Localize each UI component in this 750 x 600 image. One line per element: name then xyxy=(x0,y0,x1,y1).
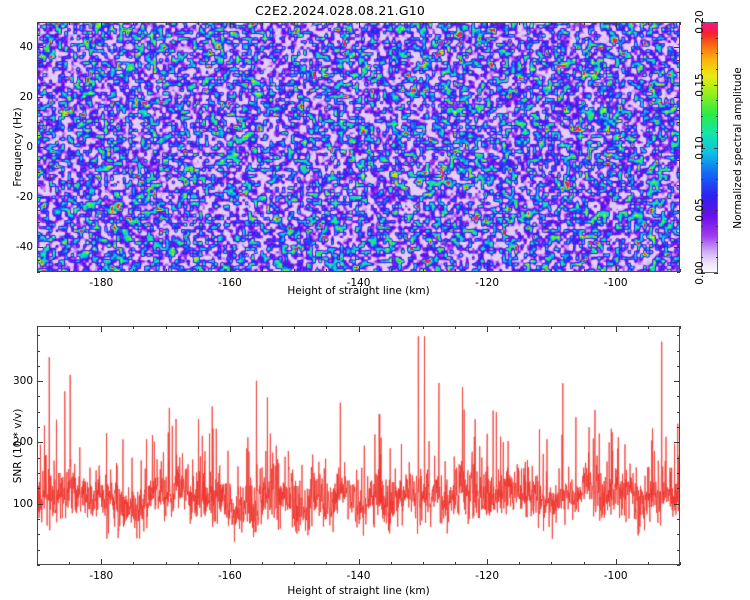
spectrogram-y-minor-tick xyxy=(37,222,40,223)
spectrogram-x-minor-tick xyxy=(294,269,295,272)
spectrogram-y-minor-tick xyxy=(37,160,40,161)
colorbar-minor-tick xyxy=(701,163,703,164)
snr-y-tick xyxy=(37,504,43,505)
spectrogram-y-minor-tick xyxy=(677,22,680,23)
spectrogram-x-minor-tick xyxy=(262,22,263,25)
spectrogram-x-minor-tick xyxy=(262,269,263,272)
spectrogram-y-minor-tick xyxy=(37,185,40,186)
spectrogram-x-tick-label: -100 xyxy=(604,277,628,289)
snr-x-tick xyxy=(230,559,231,565)
spectrogram-x-tick xyxy=(487,22,488,28)
colorbar-minor-tick xyxy=(716,69,718,70)
colorbar-tick-label: 0.10 xyxy=(694,136,706,159)
snr-x-minor-tick xyxy=(262,562,263,565)
spectrogram-y-minor-tick xyxy=(677,235,680,236)
colorbar-tick xyxy=(714,85,718,86)
snr-x-minor-tick xyxy=(166,326,167,329)
figure-title: C2E2.2024.028.08.21.G10 xyxy=(0,3,680,18)
snr-y-minor-tick xyxy=(677,519,680,520)
snr-x-minor-tick xyxy=(391,326,392,329)
colorbar-tick-label: 0.20 xyxy=(694,10,706,33)
spectrogram-y-minor-tick xyxy=(37,22,40,23)
snr-x-minor-tick xyxy=(198,326,199,329)
spectrogram-x-minor-tick xyxy=(551,22,552,25)
colorbar-minor-tick xyxy=(716,53,718,54)
spectrogram-y-minor-tick xyxy=(677,272,680,273)
spectrogram-x-minor-tick xyxy=(423,22,424,25)
snr-x-tick-label: -140 xyxy=(347,570,371,582)
spectrogram-x-axis-label: Height of straight line (km) xyxy=(287,285,429,297)
spectrogram-x-minor-tick xyxy=(423,269,424,272)
colorbar-tick-label: 0.15 xyxy=(694,73,706,96)
spectrogram-y-minor-tick xyxy=(37,210,40,211)
colorbar-minor-tick xyxy=(701,257,703,258)
spectrogram-x-minor-tick xyxy=(198,22,199,25)
spectrogram-x-minor-tick xyxy=(198,269,199,272)
colorbar-minor-tick xyxy=(701,69,703,70)
snr-y-tick xyxy=(674,504,680,505)
snr-x-tick xyxy=(487,326,488,332)
spectrogram-x-tick xyxy=(487,266,488,272)
spectrogram-x-tick-label: -180 xyxy=(89,277,113,289)
spectrogram-y-minor-tick xyxy=(677,222,680,223)
snr-y-tick xyxy=(37,442,43,443)
snr-x-minor-tick xyxy=(69,562,70,565)
snr-y-minor-tick xyxy=(677,412,680,413)
spectrogram-y-minor-tick xyxy=(677,72,680,73)
snr-x-minor-tick xyxy=(423,326,424,329)
snr-x-tick xyxy=(101,326,102,332)
snr-x-minor-tick xyxy=(37,326,38,329)
spectrogram-x-minor-tick xyxy=(166,269,167,272)
snr-x-tick-label: -180 xyxy=(89,570,113,582)
spectrogram-x-minor-tick xyxy=(294,22,295,25)
snr-x-minor-tick xyxy=(584,326,585,329)
snr-y-axis-label: SNR (10 * v/v) xyxy=(12,408,24,483)
spectrogram-plot-area[interactable] xyxy=(37,22,680,272)
spectrogram-y-tick xyxy=(37,47,43,48)
snr-y-minor-tick xyxy=(677,351,680,352)
colorbar-minor-tick xyxy=(716,163,718,164)
spectrogram-y-tick xyxy=(674,247,680,248)
snr-plot-area[interactable] xyxy=(37,326,680,565)
colorbar-minor-tick xyxy=(716,257,718,258)
snr-x-minor-tick xyxy=(680,562,681,565)
colorbar-minor-tick xyxy=(716,116,718,117)
snr-y-minor-tick xyxy=(37,550,40,551)
spectrogram-y-minor-tick xyxy=(677,160,680,161)
colorbar-minor-tick xyxy=(701,226,703,227)
snr-y-minor-tick xyxy=(677,565,680,566)
snr-y-minor-tick xyxy=(677,366,680,367)
snr-y-minor-tick xyxy=(677,335,680,336)
spectrogram-x-minor-tick xyxy=(69,22,70,25)
snr-y-minor-tick xyxy=(677,488,680,489)
spectrogram-x-minor-tick xyxy=(648,22,649,25)
spectrogram-x-minor-tick xyxy=(166,22,167,25)
colorbar-tick xyxy=(714,273,718,274)
snr-y-minor-tick xyxy=(37,473,40,474)
spectrogram-y-axis-label: Frequency (Hz) xyxy=(12,107,24,186)
snr-x-tick xyxy=(101,559,102,565)
snr-x-minor-tick xyxy=(326,562,327,565)
snr-x-minor-tick xyxy=(680,326,681,329)
colorbar-minor-tick xyxy=(701,195,703,196)
snr-x-tick xyxy=(487,559,488,565)
spectrogram-y-minor-tick xyxy=(37,35,40,36)
spectrogram-x-minor-tick xyxy=(455,269,456,272)
spectrogram-x-minor-tick xyxy=(391,269,392,272)
spectrogram-x-minor-tick xyxy=(584,22,585,25)
snr-y-minor-tick xyxy=(37,335,40,336)
snr-x-tick xyxy=(359,559,360,565)
spectrogram-y-tick-label: 20 xyxy=(5,91,33,103)
spectrogram-y-minor-tick xyxy=(37,85,40,86)
colorbar-tick-label: 0.05 xyxy=(694,199,706,222)
colorbar-minor-tick xyxy=(716,242,718,243)
spectrogram-x-minor-tick xyxy=(551,269,552,272)
spectrogram-y-tick xyxy=(674,47,680,48)
snr-y-tick-label: 300 xyxy=(5,375,33,387)
snr-y-tick xyxy=(37,381,43,382)
colorbar-minor-tick xyxy=(716,132,718,133)
snr-y-tick xyxy=(674,442,680,443)
colorbar-minor-tick xyxy=(716,179,718,180)
spectrogram-x-minor-tick xyxy=(326,269,327,272)
spectrogram-y-minor-tick xyxy=(677,135,680,136)
spectrogram-y-minor-tick xyxy=(677,60,680,61)
spectrogram-y-minor-tick xyxy=(37,135,40,136)
snr-x-minor-tick xyxy=(423,562,424,565)
snr-x-tick xyxy=(359,326,360,332)
colorbar-minor-tick xyxy=(716,195,718,196)
snr-y-minor-tick xyxy=(677,550,680,551)
snr-y-minor-tick xyxy=(37,534,40,535)
spectrogram-y-minor-tick xyxy=(37,260,40,261)
spectrogram-x-minor-tick xyxy=(648,269,649,272)
snr-x-minor-tick xyxy=(133,562,134,565)
snr-y-tick xyxy=(674,381,680,382)
snr-x-tick xyxy=(616,326,617,332)
snr-x-tick-label: -120 xyxy=(475,570,499,582)
snr-y-minor-tick xyxy=(37,366,40,367)
snr-y-minor-tick xyxy=(37,412,40,413)
colorbar-tick-label: 0.00 xyxy=(694,261,706,284)
spectrogram-x-minor-tick xyxy=(584,269,585,272)
spectrogram-y-minor-tick xyxy=(677,122,680,123)
spectrogram-y-tick xyxy=(674,97,680,98)
spectrogram-y-tick xyxy=(674,197,680,198)
snr-trace-line xyxy=(38,327,680,565)
colorbar-minor-tick xyxy=(701,38,703,39)
colorbar-tick xyxy=(714,210,718,211)
spectrogram-y-tick-label: -20 xyxy=(5,191,33,203)
colorbar-label: Normalized spectral amplitude xyxy=(732,67,744,228)
spectrogram-y-tick xyxy=(37,247,43,248)
spectrogram-y-minor-tick xyxy=(37,110,40,111)
spectrogram-y-tick xyxy=(37,147,43,148)
colorbar-minor-tick xyxy=(716,38,718,39)
snr-x-tick-label: -160 xyxy=(218,570,242,582)
spectrogram-image xyxy=(38,23,680,272)
colorbar-tick xyxy=(714,148,718,149)
snr-y-minor-tick xyxy=(677,458,680,459)
spectrogram-y-minor-tick xyxy=(677,110,680,111)
snr-y-minor-tick xyxy=(37,396,40,397)
snr-x-minor-tick xyxy=(262,326,263,329)
snr-x-minor-tick xyxy=(455,326,456,329)
spectrogram-y-tick xyxy=(37,97,43,98)
colorbar-minor-tick xyxy=(716,100,718,101)
spectrogram-x-tick-label: -120 xyxy=(475,277,499,289)
snr-y-minor-tick xyxy=(37,565,40,566)
colorbar-minor-tick xyxy=(701,116,703,117)
spectrogram-x-minor-tick xyxy=(680,269,681,272)
spectrogram-y-tick xyxy=(37,197,43,198)
snr-y-minor-tick xyxy=(677,534,680,535)
spectrogram-y-minor-tick xyxy=(37,72,40,73)
colorbar-minor-tick xyxy=(716,226,718,227)
spectrogram-y-tick xyxy=(674,147,680,148)
snr-x-minor-tick xyxy=(551,326,552,329)
spectrogram-x-minor-tick xyxy=(133,269,134,272)
spectrogram-y-minor-tick xyxy=(677,185,680,186)
spectrogram-x-minor-tick xyxy=(455,22,456,25)
spectrogram-x-tick xyxy=(359,266,360,272)
figure-canvas: C2E2.2024.028.08.21.G10 -180-160-140-120… xyxy=(0,0,750,600)
spectrogram-x-tick xyxy=(359,22,360,28)
snr-y-minor-tick xyxy=(37,458,40,459)
snr-y-tick-label: 100 xyxy=(5,498,33,510)
spectrogram-y-minor-tick xyxy=(37,235,40,236)
snr-x-minor-tick xyxy=(648,326,649,329)
spectrogram-y-minor-tick xyxy=(37,60,40,61)
snr-x-minor-tick xyxy=(551,562,552,565)
snr-x-minor-tick xyxy=(294,562,295,565)
spectrogram-x-tick xyxy=(230,22,231,28)
spectrogram-y-minor-tick xyxy=(37,272,40,273)
colorbar-minor-tick xyxy=(701,100,703,101)
colorbar-minor-tick xyxy=(701,179,703,180)
spectrogram-x-tick xyxy=(101,266,102,272)
snr-x-minor-tick xyxy=(584,562,585,565)
snr-x-minor-tick xyxy=(166,562,167,565)
snr-x-minor-tick xyxy=(391,562,392,565)
snr-x-minor-tick xyxy=(198,562,199,565)
snr-x-tick-label: -100 xyxy=(604,570,628,582)
snr-x-minor-tick xyxy=(648,562,649,565)
spectrogram-y-minor-tick xyxy=(677,172,680,173)
spectrogram-y-minor-tick xyxy=(37,172,40,173)
spectrogram-x-minor-tick xyxy=(519,22,520,25)
colorbar-minor-tick xyxy=(701,242,703,243)
spectrogram-x-minor-tick xyxy=(391,22,392,25)
spectrogram-x-minor-tick xyxy=(69,269,70,272)
snr-y-minor-tick xyxy=(37,351,40,352)
snr-y-minor-tick xyxy=(677,427,680,428)
spectrogram-x-tick xyxy=(230,266,231,272)
spectrogram-x-tick xyxy=(616,266,617,272)
snr-x-minor-tick xyxy=(519,326,520,329)
spectrogram-x-tick xyxy=(616,22,617,28)
snr-x-minor-tick xyxy=(455,562,456,565)
snr-y-minor-tick xyxy=(37,427,40,428)
snr-x-minor-tick xyxy=(69,326,70,329)
spectrogram-x-minor-tick xyxy=(133,22,134,25)
snr-x-minor-tick xyxy=(294,326,295,329)
snr-x-minor-tick xyxy=(519,562,520,565)
snr-x-minor-tick xyxy=(326,326,327,329)
snr-y-minor-tick xyxy=(37,488,40,489)
spectrogram-y-minor-tick xyxy=(37,122,40,123)
snr-y-minor-tick xyxy=(677,473,680,474)
spectrogram-x-tick-label: -160 xyxy=(218,277,242,289)
spectrogram-x-minor-tick xyxy=(680,22,681,25)
colorbar-tick xyxy=(714,22,718,23)
snr-x-axis-label: Height of straight line (km) xyxy=(287,585,429,597)
spectrogram-y-tick-label: 40 xyxy=(5,41,33,53)
spectrogram-x-tick xyxy=(101,22,102,28)
spectrogram-y-tick-label: -40 xyxy=(5,241,33,253)
snr-x-tick xyxy=(616,559,617,565)
snr-x-tick xyxy=(230,326,231,332)
snr-y-minor-tick xyxy=(677,396,680,397)
spectrogram-x-minor-tick xyxy=(519,269,520,272)
spectrogram-y-minor-tick xyxy=(677,85,680,86)
snr-y-minor-tick xyxy=(37,519,40,520)
colorbar-minor-tick xyxy=(701,53,703,54)
spectrogram-y-minor-tick xyxy=(677,210,680,211)
snr-x-minor-tick xyxy=(133,326,134,329)
spectrogram-y-minor-tick xyxy=(677,260,680,261)
spectrogram-x-minor-tick xyxy=(326,22,327,25)
spectrogram-y-minor-tick xyxy=(677,35,680,36)
colorbar-minor-tick xyxy=(701,132,703,133)
